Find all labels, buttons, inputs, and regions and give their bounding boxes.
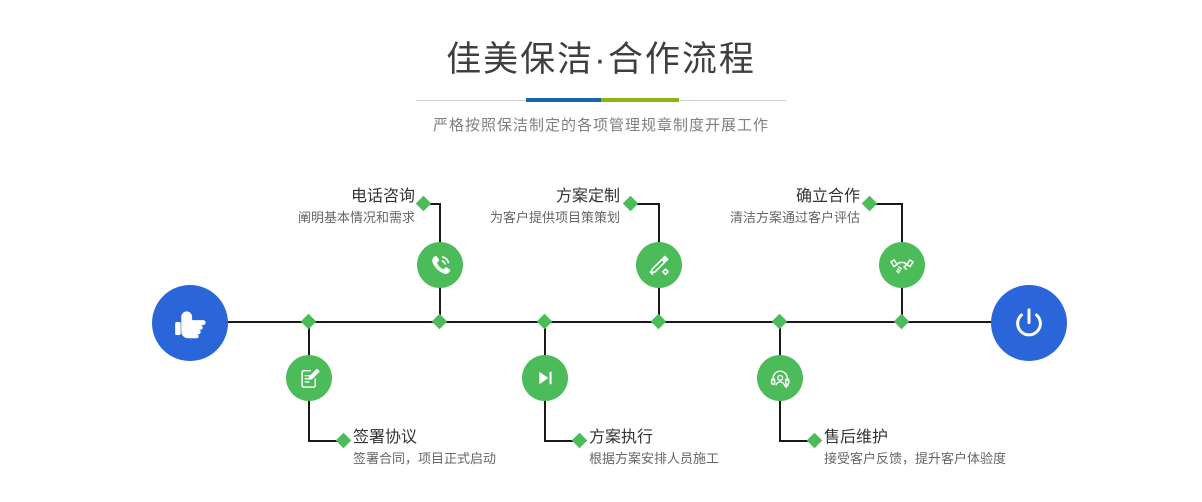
step-icon-document-sign (286, 355, 332, 401)
step-desc: 为客户提供项目策策划 (370, 208, 620, 228)
power-icon (1008, 302, 1050, 344)
header: 佳美保洁·合作流程 严格按照保洁制定的各项管理规章制度开展工作 (0, 0, 1202, 137)
step-label-top-2: 方案定制 为客户提供项目策策划 (370, 186, 620, 228)
step-icon-handshake (879, 242, 925, 288)
timeline-start-node (152, 285, 228, 361)
title-divider (416, 98, 786, 103)
axis-marker-top-3 (894, 314, 910, 330)
step-label-top-3: 确立合作 清洁方案通过客户评估 (610, 186, 860, 228)
divider-segment-blue (526, 98, 601, 102)
cooperation-process-infographic: 佳美保洁·合作流程 严格按照保洁制定的各项管理规章制度开展工作 (0, 0, 1202, 502)
document-sign-icon (297, 366, 322, 391)
step-title: 确立合作 (610, 186, 860, 208)
pencil-edit-icon (646, 252, 672, 278)
step-icon-phone-call (417, 242, 463, 288)
step-desc: 清洁方案通过客户评估 (610, 208, 860, 228)
page-title: 佳美保洁·合作流程 (0, 0, 1202, 82)
step-icon-pencil-edit (636, 242, 682, 288)
axis-marker-bottom-3 (772, 314, 788, 330)
axis-marker-top-1 (432, 314, 448, 330)
step-icon-headset-support (757, 355, 803, 401)
step-title: 方案定制 (370, 186, 620, 208)
phone-call-icon (427, 252, 453, 278)
pointing-hand-icon (168, 301, 212, 345)
step-desc: 接受客户反馈，提升客户体验度 (824, 449, 1144, 469)
step-icon-play-next (522, 355, 568, 401)
headset-support-icon (768, 366, 793, 391)
axis-marker-bottom-1 (301, 314, 317, 330)
axis-marker-top-2 (651, 314, 667, 330)
label-marker-bottom-1 (336, 433, 352, 449)
step-title: 售后维护 (824, 427, 1144, 449)
label-marker-top-3 (862, 196, 878, 212)
play-next-icon (533, 366, 557, 390)
timeline-end-node (991, 285, 1067, 361)
step-label-bottom-3: 售后维护 接受客户反馈，提升客户体验度 (824, 427, 1144, 469)
axis-marker-bottom-2 (537, 314, 553, 330)
page-subtitle: 严格按照保洁制定的各项管理规章制度开展工作 (0, 103, 1202, 137)
divider-segment-green (601, 98, 679, 102)
handshake-icon (888, 251, 916, 279)
